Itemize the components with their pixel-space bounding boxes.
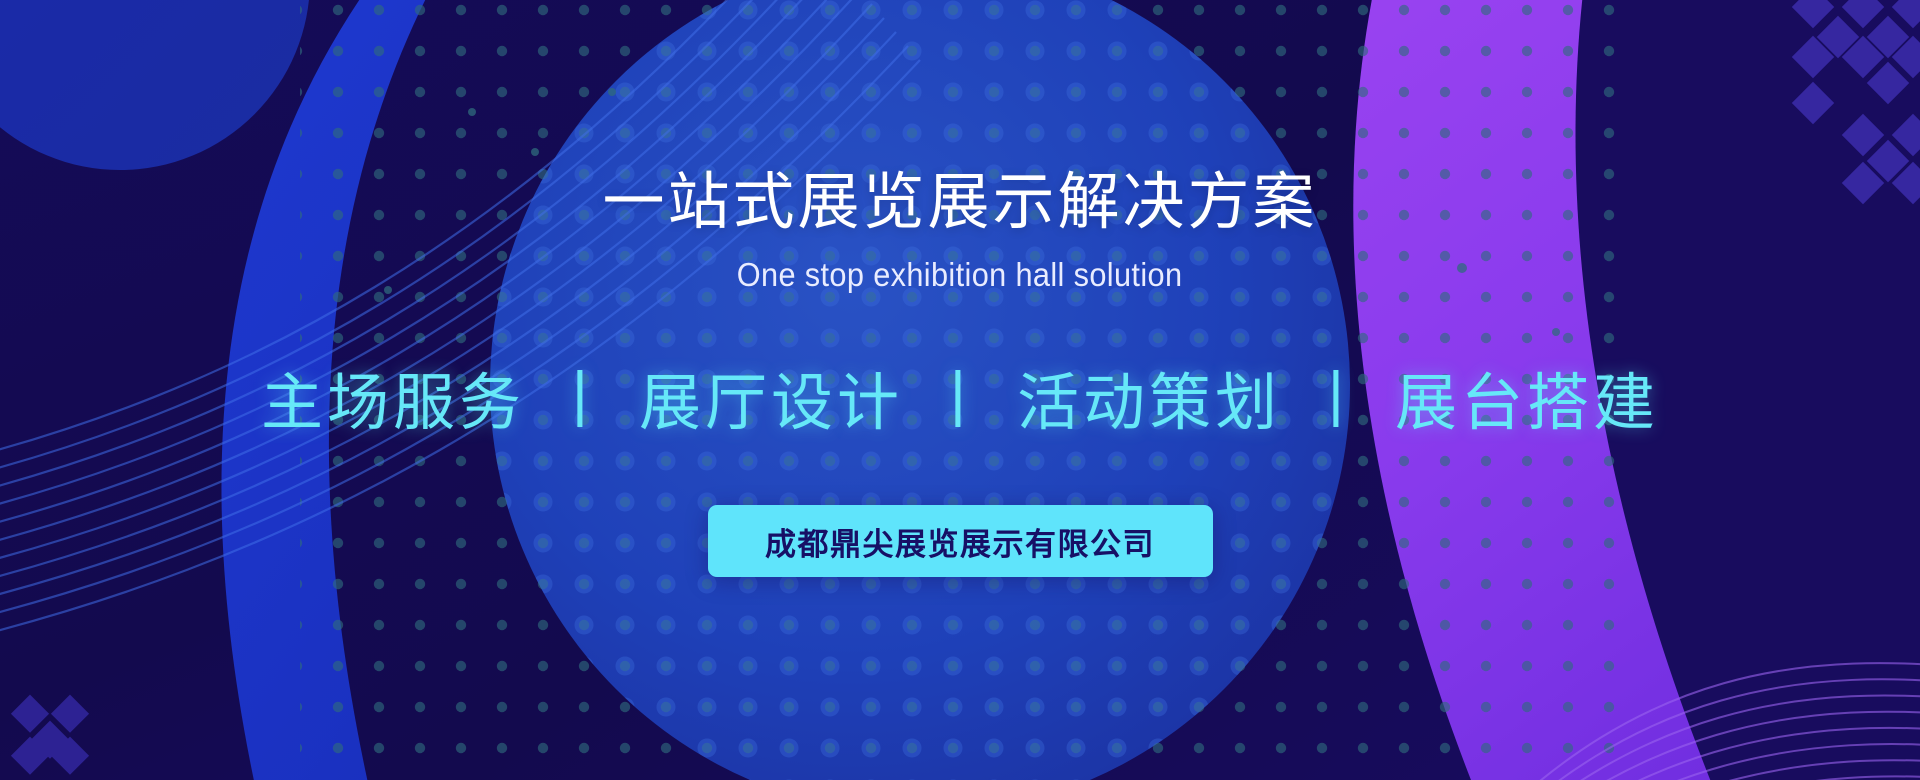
service-list: 主场服务 丨 展厅设计 丨 活动策划 丨 展台搭建	[259, 352, 1661, 442]
service-separator-2: 丨	[1283, 350, 1393, 440]
service-item-1: 展厅设计	[637, 352, 905, 442]
page-title: 一站式展览展示解决方案	[602, 172, 1317, 234]
company-cta-button[interactable]: 成都鼎尖展览展示有限公司	[708, 505, 1213, 577]
service-separator-0: 丨	[527, 350, 637, 440]
service-item-3: 展台搭建	[1393, 352, 1661, 442]
service-item-2: 活动策划	[1015, 352, 1283, 442]
service-item-0: 主场服务	[259, 352, 527, 442]
service-separator-1: 丨	[905, 350, 1015, 440]
page-subtitle: One stop exhibition hall solution	[737, 256, 1183, 294]
hero-banner: 一站式展览展示解决方案 One stop exhibition hall sol…	[0, 0, 1920, 780]
